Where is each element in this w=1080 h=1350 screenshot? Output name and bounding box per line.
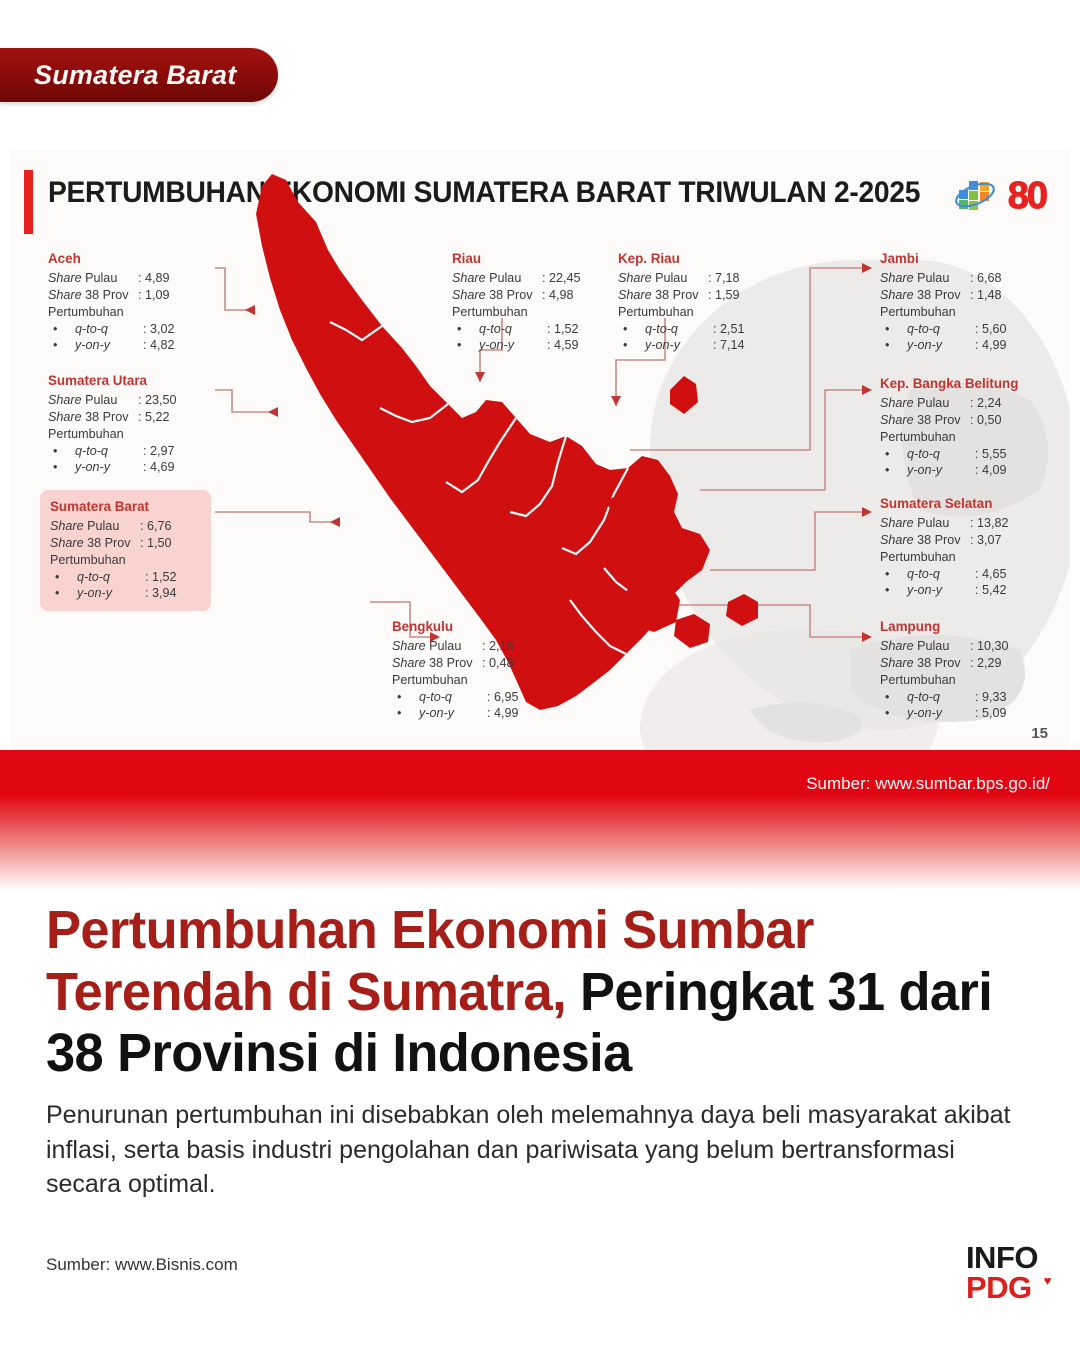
qtoq-label: q-to-q [645, 321, 713, 338]
qtoq-label: q-to-q [419, 689, 487, 706]
yony-label: y-on-y [907, 582, 975, 599]
province-name: Bengkulu [392, 618, 543, 636]
yony-value: 4,59 [554, 338, 579, 352]
watermark-line-2: PDG [966, 1270, 1032, 1305]
yony-label: y-on-y [907, 705, 975, 722]
share-38prov-value: 3,07 [977, 533, 1002, 547]
province-name: Jambi [880, 250, 1031, 268]
share-pulau-value: 4,89 [145, 271, 170, 285]
pertumbuhan-label: Pertumbuhan [48, 426, 199, 443]
qtoq-value: 3,02 [150, 322, 175, 336]
yony-label: y-on-y [75, 459, 143, 476]
yony-label: y-on-y [75, 337, 143, 354]
province-block-aceh: Aceh Share Pulau: 4,89 Share 38 Prov: 1,… [48, 250, 199, 354]
province-name: Kep. Riau [618, 250, 769, 268]
band-source-text: Sumber: www.sumbar.bps.go.id/ [806, 774, 1050, 794]
yony-label: y-on-y [907, 462, 975, 479]
pertumbuhan-label: Pertumbuhan [880, 672, 1031, 689]
qtoq-value: 2,97 [150, 444, 175, 458]
subtitle-text: Penurunan pertumbuhan ini disebabkan ole… [46, 1098, 1021, 1202]
yony-value: 5,42 [982, 583, 1007, 597]
qtoq-label: q-to-q [907, 689, 975, 706]
watermark-line-1: INFO [966, 1243, 1038, 1273]
watermark-line-2-wrap: PDG♥ [966, 1273, 1038, 1303]
qtoq-label: q-to-q [77, 569, 145, 586]
colon: : [138, 271, 142, 285]
yony-value: 4,82 [150, 338, 175, 352]
share-pulau-value: 2,18 [489, 639, 514, 653]
province-name: Sumatera Selatan [880, 495, 1031, 513]
yony-value: 7,14 [720, 338, 745, 352]
slide-page-number: 15 [1031, 725, 1048, 742]
region-badge: Sumatera Barat [0, 48, 278, 102]
province-block-bengkulu: Bengkulu Share Pulau: 2,18 Share 38 Prov… [392, 618, 543, 722]
share-38prov-value: 1,09 [145, 288, 170, 302]
bottom-source: Sumber: www.Bisnis.com [46, 1255, 238, 1275]
pertumbuhan-label: Pertumbuhan [618, 304, 769, 321]
pertumbuhan-label: Pertumbuhan [48, 304, 199, 321]
pertumbuhan-label: Pertumbuhan [880, 304, 1031, 321]
share-pulau-value: 6,76 [147, 519, 172, 533]
share-38prov-value: 1,48 [977, 288, 1002, 302]
yony-label: y-on-y [419, 705, 487, 722]
share-pulau-value: 10,30 [977, 639, 1009, 653]
yony-label: y-on-y [77, 585, 145, 602]
province-block-riau: Riau Share Pulau: 22,45 Share 38 Prov: 4… [452, 250, 603, 354]
share-pulau-value: 7,18 [715, 271, 740, 285]
province-name: Sumatera Utara [48, 372, 199, 390]
province-name: Riau [452, 250, 603, 268]
share-38prov-value: 0,50 [977, 413, 1002, 427]
yony-label: y-on-y [479, 337, 547, 354]
qtoq-value: 2,51 [720, 322, 745, 336]
province-name: Kep. Bangka Belitung [880, 375, 1031, 393]
slide-card: PERTUMBUHAN EKONOMI SUMATERA BARAT TRIWU… [10, 150, 1070, 750]
share-38prov-value: 4,98 [549, 288, 574, 302]
qtoq-label: q-to-q [907, 566, 975, 583]
heart-icon: ♥ [1044, 1275, 1051, 1287]
province-block-sumatera-barat: Sumatera Barat Share Pulau: 6,76 Share 3… [40, 490, 211, 611]
share-pulau-value: 22,45 [549, 271, 581, 285]
qtoq-value: 9,33 [982, 690, 1007, 704]
share-pulau-value: 2,24 [977, 396, 1002, 410]
source-band: Sumber: www.sumbar.bps.go.id/ [0, 750, 1080, 890]
headline: Pertumbuhan Ekonomi Sumbar Terendah di S… [46, 900, 1006, 1085]
province-name: Lampung [880, 618, 1031, 636]
qtoq-label: q-to-q [907, 446, 975, 463]
share-pulau-value: 23,50 [145, 393, 177, 407]
yony-label: y-on-y [645, 337, 713, 354]
yony-value: 4,69 [150, 460, 175, 474]
province-name: Aceh [48, 250, 199, 268]
province-block-lampung: Lampung Share Pulau: 10,30 Share 38 Prov… [880, 618, 1031, 722]
province-block-bangka-belitung: Kep. Bangka Belitung Share Pulau: 2,24 S… [880, 375, 1031, 479]
infographic-page: Sumatera Barat PERTUMBUHAN EKONOMI SUMAT… [0, 0, 1080, 1350]
province-block-jambi: Jambi Share Pulau: 6,68 Share 38 Prov: 1… [880, 250, 1031, 354]
qtoq-label: q-to-q [479, 321, 547, 338]
pertumbuhan-label: Pertumbuhan [452, 304, 603, 321]
yony-value: 4,99 [494, 706, 519, 720]
pertumbuhan-label: Pertumbuhan [50, 552, 201, 569]
qtoq-value: 1,52 [152, 570, 177, 584]
province-block-sumatera-utara: Sumatera Utara Share Pulau: 23,50 Share … [48, 372, 199, 476]
share-38prov-value: 1,59 [715, 288, 740, 302]
qtoq-value: 5,60 [982, 322, 1007, 336]
qtoq-value: 6,95 [494, 690, 519, 704]
share-pulau-value: 6,68 [977, 271, 1002, 285]
province-block-sumatera-selatan: Sumatera Selatan Share Pulau: 13,82 Shar… [880, 495, 1031, 599]
yony-value: 4,09 [982, 463, 1007, 477]
yony-value: 4,99 [982, 338, 1007, 352]
qtoq-value: 5,55 [982, 447, 1007, 461]
region-badge-pill: Sumatera Barat [0, 48, 278, 102]
province-block-kep-riau: Kep. Riau Share Pulau: 7,18 Share 38 Pro… [618, 250, 769, 354]
qtoq-value: 1,52 [554, 322, 579, 336]
share-38prov-value: 1,50 [147, 536, 172, 550]
share-38prov-value: 2,29 [977, 656, 1002, 670]
infopdg-watermark: INFO PDG♥ [966, 1243, 1038, 1303]
pertumbuhan-label: Pertumbuhan [880, 549, 1031, 566]
pertumbuhan-label: Pertumbuhan [880, 429, 1031, 446]
yony-label: y-on-y [907, 337, 975, 354]
qtoq-label: q-to-q [907, 321, 975, 338]
province-name: Sumatera Barat [50, 498, 201, 516]
qtoq-label: q-to-q [75, 321, 143, 338]
qtoq-label: q-to-q [75, 443, 143, 460]
qtoq-value: 4,65 [982, 567, 1007, 581]
share-38prov-value: 5,22 [145, 410, 170, 424]
yony-value: 5,09 [982, 706, 1007, 720]
region-badge-label: Sumatera Barat [34, 60, 236, 91]
yony-value: 3,94 [152, 586, 177, 600]
share-38prov-value: 0,48 [489, 656, 514, 670]
share-pulau-value: 13,82 [977, 516, 1009, 530]
pertumbuhan-label: Pertumbuhan [392, 672, 543, 689]
